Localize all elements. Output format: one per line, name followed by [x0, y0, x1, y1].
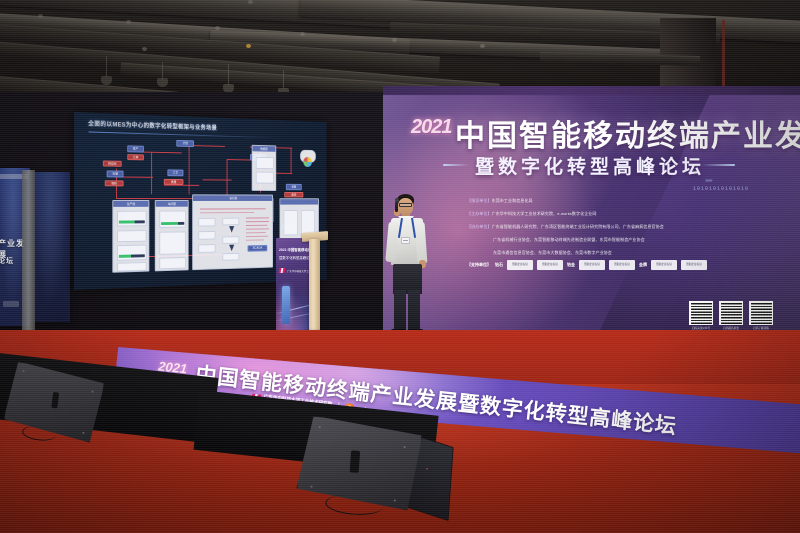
flow-panel: 车间层: [155, 200, 189, 271]
stage-monitor-center: [295, 415, 453, 521]
org-line: 广东省机械行业协会、东莞智能移动终端先进制造业联盟、东莞市智能制造产业协会: [493, 237, 645, 243]
binary-decoration: 10101010101010: [693, 186, 749, 192]
flow-node: 质量: [164, 179, 184, 185]
hust-institute-logo-icon: [279, 268, 285, 273]
chevron-decoration: ››››››››››: [705, 178, 712, 184]
speaker-leg-left: [394, 290, 406, 332]
sponsor-row: 【支持单位】 钻石 赞助企业标识 赞助企业标识 铂金 赞助企业标识 赞助企业标识…: [467, 260, 707, 270]
backdrop-main-title: 中国智能移动终端产业发展: [455, 111, 800, 155]
backdrop-year: 2021: [411, 116, 452, 139]
panel-header: [280, 199, 318, 204]
flow-node: 能源: [284, 192, 303, 197]
flow-panel: 生产线: [112, 200, 149, 273]
rollup-stand: [22, 170, 35, 330]
panel-header: 车间层: [156, 201, 188, 207]
sponsor-plate: 赞助企业标识: [537, 260, 563, 270]
speaker-person: [378, 194, 440, 336]
qr-code-icon: [749, 301, 773, 325]
org-text: 广东华中科技大学工业技术研究院、e-works数字化企业网: [492, 211, 597, 216]
sponsor-plate: 赞助企业标识: [609, 260, 635, 270]
org-line: 东莞市通信信息官协会、东莞市大数据协会、东莞市数字产业协会: [493, 250, 612, 256]
org-tag: 【指导单位】: [467, 198, 492, 203]
org-text: 东莞市工业和信息化局: [492, 198, 533, 203]
org-line: 【主办单位】广东华中科技大学工业技术研究院、e-works数字化企业网: [467, 211, 597, 217]
scada-tag: SCADA: [248, 245, 268, 252]
panel-header: 数据层: [253, 146, 276, 152]
speaker-leg-right: [408, 290, 420, 332]
qr-code-strip: 扫码关注公众号 扫码报名参会 扫码了解详情: [689, 301, 773, 330]
qr-item: 扫码关注公众号: [689, 301, 713, 330]
sponsor-section-label: 【支持单位】: [467, 262, 491, 268]
org-tag: 【主办单位】: [467, 211, 492, 216]
podium-phone-graphic: [282, 286, 290, 324]
sponsor-tier-label: 金牌: [639, 262, 647, 268]
speaker-glasses-icon: [399, 203, 412, 207]
panel-header: 执行层: [193, 195, 272, 201]
org-line: 【协办单位】广东省智能机器人研究院、广东湾区智能终端工业设计研究院有限公司、广东…: [467, 224, 664, 230]
flow-node: 客户: [127, 145, 144, 152]
flow-node: 设备: [286, 184, 302, 190]
flow-node: 订单: [127, 154, 144, 160]
qr-code-icon: [719, 301, 743, 325]
microphone-icon: [395, 201, 398, 212]
flow-node: 供应商: [103, 161, 122, 167]
rollup-banner-second: [30, 172, 70, 322]
stage-monitor-left: [2, 360, 106, 443]
qr-item: 扫码了解详情: [749, 301, 773, 330]
flow-panel: 数据层: [252, 145, 277, 191]
podium-post: [309, 239, 320, 338]
flow-node: 计划: [176, 140, 194, 147]
podium-title-line2: 暨数字化转型高峰论坛: [279, 255, 313, 260]
sponsor-tier-label: 铂金: [567, 262, 575, 268]
speaker-badge: [401, 237, 410, 244]
org-tag: 【协办单位】: [467, 224, 492, 229]
event-backdrop: 广东华中科技大学工业技术研究院 Guangdong HUST Industria…: [383, 86, 800, 336]
flow-panel: 执行层 SCADA: [192, 194, 273, 270]
subtitle-dash-right: [701, 164, 735, 166]
qr-item: 扫码报名参会: [719, 301, 743, 330]
sponsor-plate: 赞助企业标识: [579, 260, 605, 270]
org-line: 【指导单位】东莞市工业和信息化局: [467, 198, 533, 204]
sponsor-plate: 赞助企业标识: [651, 260, 677, 270]
org-text: 广东省机械行业协会、东莞智能移动终端先进制造业联盟、东莞市智能制造产业协会: [493, 237, 645, 242]
backdrop-subtitle: 暨数字化转型高峰论坛: [475, 152, 705, 179]
subtitle-dash-left: [443, 164, 469, 166]
org-text: 东莞市通信信息官协会、东莞市大数据协会、东莞市数字产业协会: [493, 250, 612, 255]
speaker-podium: 2021 中国智能移动终端产业发展 暨数字化转型高峰论坛 广东华中科技大学工业技…: [276, 232, 328, 338]
sponsor-plate: 赞助企业标识: [507, 260, 533, 270]
org-text: 广东省智能机器人研究院、广东湾区智能终端工业设计研究院有限公司、广东省麻疯信息官…: [492, 224, 664, 229]
flow-node: 工艺: [167, 169, 183, 176]
panel-header: 生产线: [113, 201, 148, 207]
speaker-arm-right: [415, 222, 428, 265]
flow-node: 仓储: [107, 170, 124, 177]
conference-stage-photo: 产业发展 论坛 全面的以MES为中心的数字化转型框架与业务场景 客户 订单: [0, 0, 800, 533]
microphone-head-icon: [395, 198, 399, 202]
qr-code-icon: [689, 301, 713, 325]
sponsor-plate: 赞助企业标识: [681, 260, 707, 270]
flow-node: 物料: [105, 180, 124, 186]
rollup-text-line2: 论坛: [0, 256, 14, 266]
sponsor-tier-label: 钻石: [495, 262, 503, 268]
